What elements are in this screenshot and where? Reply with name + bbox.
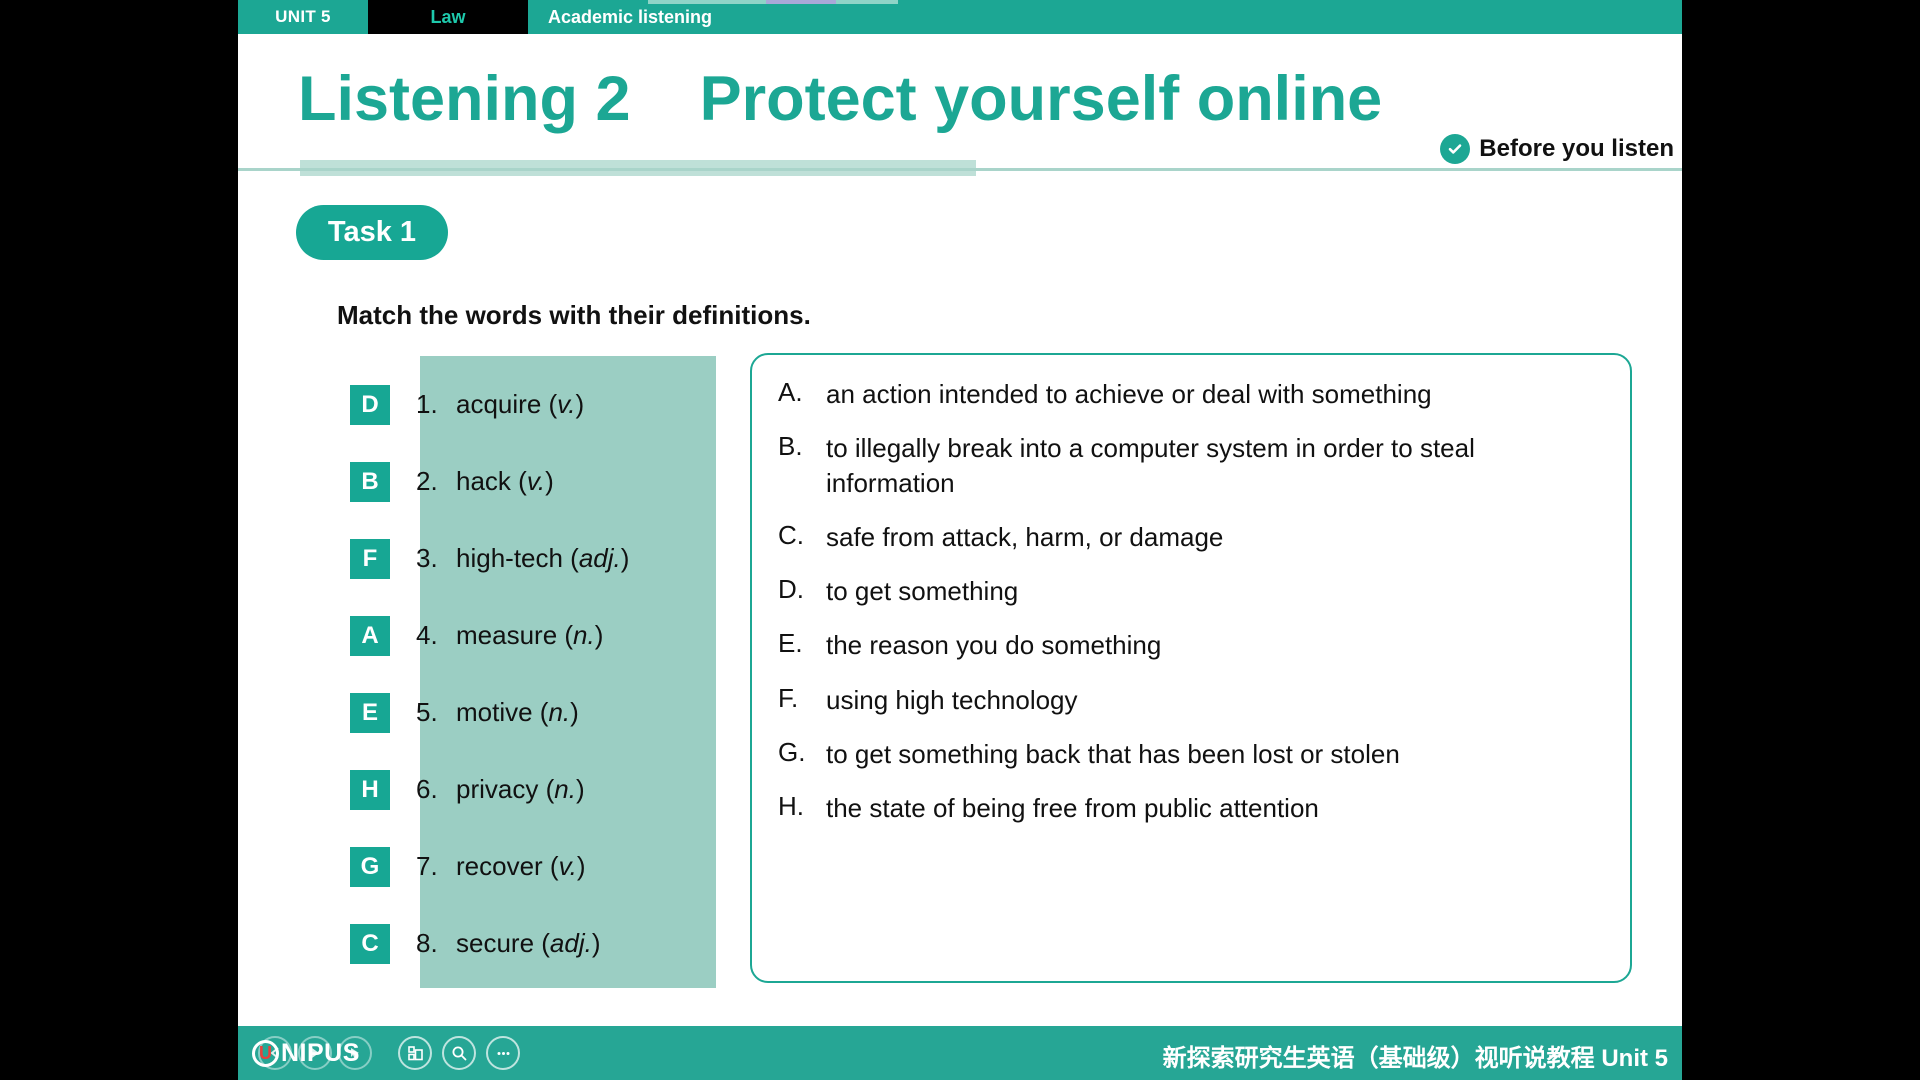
definition-text: to get something back that has been lost… [826, 737, 1400, 772]
definition-item: D.to get something [778, 574, 1604, 609]
definition-text: the reason you do something [826, 628, 1161, 663]
title-part-2: Protect yourself online [700, 64, 1383, 134]
word-term: high-tech (adj.) [456, 543, 629, 574]
definition-letter: A. [778, 377, 826, 412]
word-number: 8. [416, 928, 456, 959]
status-badge: Before you listen [1440, 134, 1674, 164]
word-number: 6. [416, 774, 456, 805]
answer-box[interactable]: G [350, 847, 390, 887]
top-notch-highlight [766, 0, 836, 4]
answer-box[interactable]: C [350, 924, 390, 964]
word-number: 7. [416, 851, 456, 882]
word-list: D1.acquire (v.)B2.hack (v.)F3.high-tech … [350, 356, 730, 988]
word-term: motive (n.) [456, 697, 579, 728]
slide-root: UNIT 5 Law Academic listening Listening … [0, 0, 1920, 1080]
layout-icon[interactable] [398, 1036, 432, 1070]
definition-letter: F. [778, 683, 826, 718]
answer-box[interactable]: B [350, 462, 390, 502]
word-list-item: C8.secure (adj.) [350, 905, 730, 982]
part-of-speech: v. [559, 851, 577, 881]
part-of-speech: n. [573, 620, 595, 650]
slide-canvas: UNIT 5 Law Academic listening Listening … [238, 0, 1682, 1080]
definition-text: using high technology [826, 683, 1078, 718]
word-list-item: D1.acquire (v.) [350, 366, 730, 443]
title-part-1: Listening 2 [298, 64, 631, 134]
answer-box[interactable]: F [350, 539, 390, 579]
definition-text: safe from attack, harm, or damage [826, 520, 1223, 555]
word-term: privacy (n.) [456, 774, 585, 805]
answer-box[interactable]: D [350, 385, 390, 425]
definition-letter: D. [778, 574, 826, 609]
word-list-item: E5.motive (n.) [350, 674, 730, 751]
part-of-speech: adj. [550, 928, 592, 958]
word-number: 1. [416, 389, 456, 420]
word-list-item: B2.hack (v.) [350, 443, 730, 520]
definition-item: A.an action intended to achieve or deal … [778, 377, 1604, 412]
page-title: Listening 2 Protect yourself online [298, 55, 1658, 145]
check-circle-icon [1440, 134, 1470, 164]
tab-academic-listening[interactable]: Academic listening [528, 0, 712, 34]
definition-text: the state of being free from public atte… [826, 791, 1319, 826]
word-list-item: A4.measure (n.) [350, 597, 730, 674]
answer-box[interactable]: A [350, 616, 390, 656]
definition-item: H.the state of being free from public at… [778, 791, 1604, 826]
unipus-logo-letter: U [259, 1044, 272, 1062]
definition-letter: E. [778, 628, 826, 663]
tab-unit[interactable]: UNIT 5 [238, 0, 368, 34]
unipus-logo-mark: U [252, 1040, 279, 1067]
answer-box[interactable]: H [350, 770, 390, 810]
definition-item: G.to get something back that has been lo… [778, 737, 1604, 772]
word-number: 3. [416, 543, 456, 574]
word-term: recover (v.) [456, 851, 586, 882]
definition-letter: B. [778, 431, 826, 501]
part-of-speech: v. [557, 389, 575, 419]
course-note: 新探索研究生英语（基础级）视听说教程 Unit 5 [1163, 1038, 1668, 1073]
definition-item: F.using high technology [778, 683, 1604, 718]
word-number: 5. [416, 697, 456, 728]
task-instruction: Match the words with their definitions. [337, 300, 811, 331]
definition-text: an action intended to achieve or deal wi… [826, 377, 1432, 412]
definition-letter: H. [778, 791, 826, 826]
tab-theme-law[interactable]: Law [368, 0, 528, 34]
word-number: 2. [416, 466, 456, 497]
word-list-item: G7.recover (v.) [350, 828, 730, 905]
footer-tools [398, 1036, 520, 1070]
word-number: 4. [416, 620, 456, 651]
part-of-speech: n. [548, 697, 570, 727]
word-term: hack (v.) [456, 466, 554, 497]
more-icon[interactable] [486, 1036, 520, 1070]
definition-item: B.to illegally break into a computer sys… [778, 431, 1604, 501]
definition-item: E.the reason you do something [778, 628, 1604, 663]
word-term: acquire (v.) [456, 389, 584, 420]
answer-box[interactable]: E [350, 693, 390, 733]
part-of-speech: adj. [579, 543, 621, 573]
word-term: secure (adj.) [456, 928, 601, 959]
topbar: UNIT 5 Law Academic listening [238, 0, 1682, 34]
definition-letter: C. [778, 520, 826, 555]
definition-item: C.safe from attack, harm, or damage [778, 520, 1604, 555]
unipus-logo: U NIPUS [252, 1034, 360, 1072]
header-divider-line [238, 168, 1682, 171]
definition-text: to illegally break into a computer syste… [826, 431, 1596, 501]
status-badge-label: Before you listen [1479, 135, 1674, 163]
definitions-box: A.an action intended to achieve or deal … [750, 353, 1632, 983]
part-of-speech: n. [554, 774, 576, 804]
part-of-speech: v. [527, 466, 545, 496]
definition-text: to get something [826, 574, 1018, 609]
search-icon[interactable] [442, 1036, 476, 1070]
word-term: measure (n.) [456, 620, 603, 651]
word-list-item: F3.high-tech (adj.) [350, 520, 730, 597]
footer-bar: U NIPUS [238, 1026, 1682, 1080]
definition-letter: G. [778, 737, 826, 772]
unipus-logo-text: NIPUS [281, 1039, 360, 1068]
task-pill: Task 1 [296, 205, 448, 260]
word-list-item: H6.privacy (n.) [350, 751, 730, 828]
